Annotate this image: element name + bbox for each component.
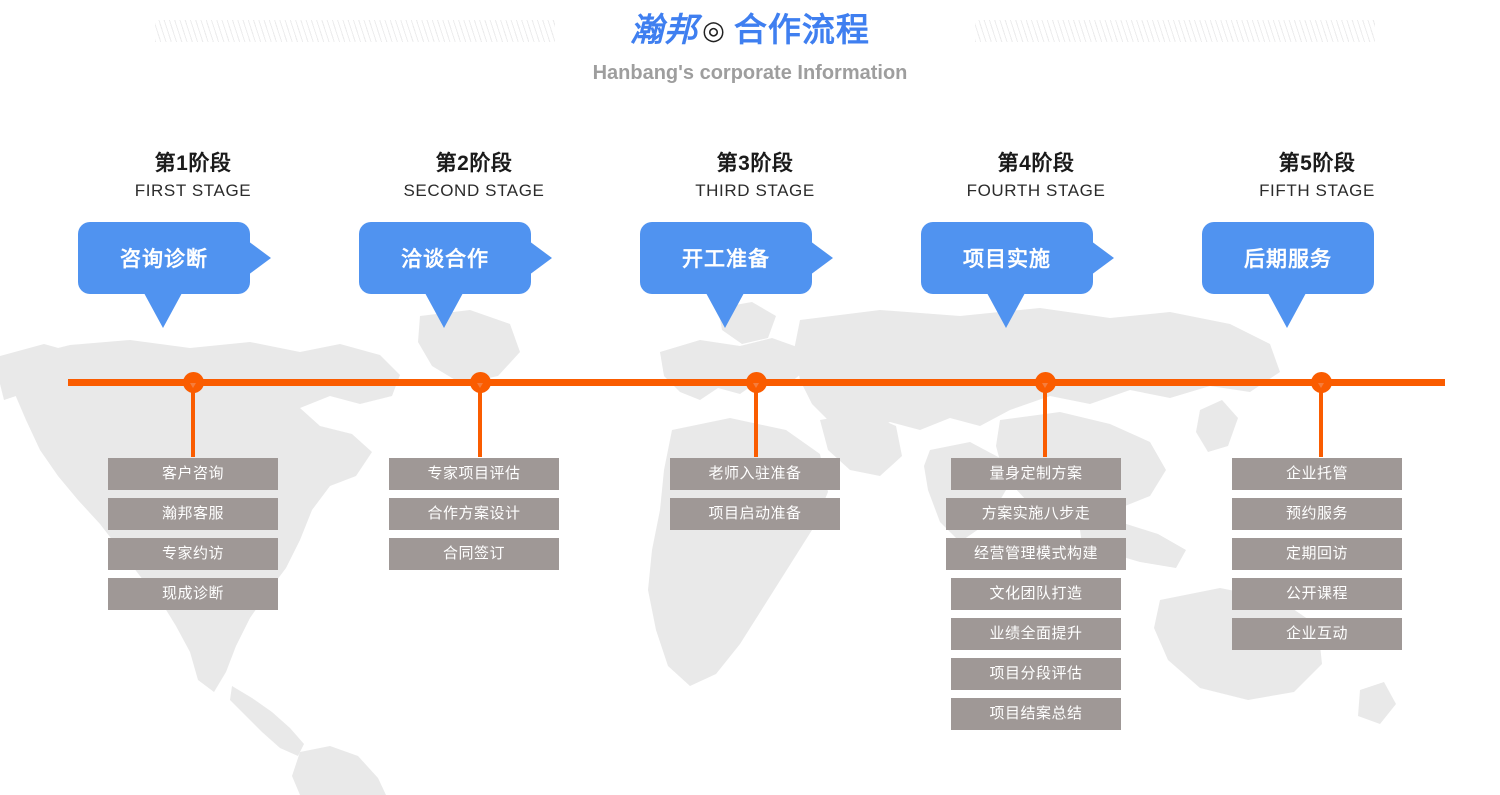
list-item[interactable]: 企业托管 [1232, 458, 1402, 490]
callout-box-3[interactable]: 开工准备 [640, 222, 812, 294]
list-item[interactable]: 企业互动 [1232, 618, 1402, 650]
stage-title-cn-5: 第5阶段 [1176, 150, 1458, 178]
list-item[interactable]: 瀚邦客服 [108, 498, 278, 530]
list-item[interactable]: 经营管理模式构建 [946, 538, 1126, 570]
stage-heading-3: 第3阶段THIRD STAGE [614, 150, 896, 204]
timeline-connector-1 [191, 385, 195, 457]
stage-column-1: 第1阶段FIRST STAGE咨询诊断 [52, 150, 334, 334]
infographic-canvas: 瀚邦◎合作流程 Hanbang's corporate Information … [0, 0, 1500, 795]
stage-title-en-3: THIRD STAGE [614, 178, 896, 204]
stage-heading-4: 第4阶段FOURTH STAGE [895, 150, 1177, 204]
stage-title-cn-2: 第2阶段 [333, 150, 615, 178]
timeline-connector-3 [754, 385, 758, 457]
list-item[interactable]: 业绩全面提升 [951, 618, 1121, 650]
timeline-connector-4 [1043, 385, 1047, 457]
callout-label-5: 后期服务 [1244, 243, 1332, 273]
stage-title-en-5: FIFTH STAGE [1176, 178, 1458, 204]
timeline-connector-2 [478, 385, 482, 457]
brand-name-cn: 瀚邦 [630, 11, 698, 48]
callout-down-pointer-icon-5 [1268, 293, 1306, 328]
stage-title-en-2: SECOND STAGE [333, 178, 615, 204]
callout-label-4: 项目实施 [963, 243, 1051, 273]
stage-items-5: 企业托管预约服务定期回访公开课程企业互动 [1176, 458, 1458, 658]
stage-heading-2: 第2阶段SECOND STAGE [333, 150, 615, 204]
list-item[interactable]: 合同签订 [389, 538, 559, 570]
callout-box-4[interactable]: 项目实施 [921, 222, 1093, 294]
list-item[interactable]: 专家约访 [108, 538, 278, 570]
list-item[interactable]: 专家项目评估 [389, 458, 559, 490]
stage-title-cn-4: 第4阶段 [895, 150, 1177, 178]
stage-items-3: 老师入驻准备项目启动准备 [614, 458, 896, 538]
title-block: 瀚邦◎合作流程 Hanbang's corporate Information [0, 8, 1500, 85]
stage-callout-1[interactable]: 咨询诊断 [52, 222, 334, 334]
stage-title-en-1: FIRST STAGE [52, 178, 334, 204]
list-item[interactable]: 老师入驻准备 [670, 458, 840, 490]
list-item[interactable]: 方案实施八步走 [946, 498, 1126, 530]
page-title-text: 合作流程 [734, 11, 870, 48]
page-header: 瀚邦◎合作流程 Hanbang's corporate Information [0, 0, 1500, 110]
stage-callout-2[interactable]: 洽谈合作 [333, 222, 615, 334]
timeline-marker-4[interactable] [1035, 372, 1056, 393]
stage-column-3: 第3阶段THIRD STAGE开工准备 [614, 150, 896, 334]
list-item[interactable]: 文化团队打造 [951, 578, 1121, 610]
list-item[interactable]: 现成诊断 [108, 578, 278, 610]
timeline-marker-5[interactable] [1311, 372, 1332, 393]
stage-column-2: 第2阶段SECOND STAGE洽谈合作 [333, 150, 615, 334]
stage-items-2: 专家项目评估合作方案设计合同签订 [333, 458, 615, 578]
stage-callout-5[interactable]: 后期服务 [1176, 222, 1458, 334]
callout-down-pointer-icon-2 [425, 293, 463, 328]
list-item[interactable]: 项目启动准备 [670, 498, 840, 530]
brand-logo-icon: ◎ [700, 15, 728, 45]
list-item[interactable]: 项目分段评估 [951, 658, 1121, 690]
callout-label-2: 洽谈合作 [401, 243, 489, 273]
callout-down-pointer-icon-1 [144, 293, 182, 328]
list-item[interactable]: 量身定制方案 [951, 458, 1121, 490]
list-item[interactable]: 定期回访 [1232, 538, 1402, 570]
stage-heading-1: 第1阶段FIRST STAGE [52, 150, 334, 204]
callout-down-pointer-icon-3 [706, 293, 744, 328]
page-subtitle: Hanbang's corporate Information [0, 62, 1500, 85]
list-item[interactable]: 客户咨询 [108, 458, 278, 490]
stage-callout-3[interactable]: 开工准备 [614, 222, 896, 334]
stage-items-1: 客户咨询瀚邦客服专家约访现成诊断 [52, 458, 334, 618]
callout-box-2[interactable]: 洽谈合作 [359, 222, 531, 294]
stage-items-4: 量身定制方案方案实施八步走经营管理模式构建文化团队打造业绩全面提升项目分段评估项… [895, 458, 1177, 738]
stage-heading-5: 第5阶段FIFTH STAGE [1176, 150, 1458, 204]
callout-down-pointer-icon-4 [987, 293, 1025, 328]
timeline-marker-3[interactable] [746, 372, 767, 393]
list-item[interactable]: 合作方案设计 [389, 498, 559, 530]
callout-box-5[interactable]: 后期服务 [1202, 222, 1374, 294]
callout-right-arrow-icon-1 [244, 238, 271, 278]
page-title: 瀚邦◎合作流程 [630, 8, 870, 52]
timeline-marker-1[interactable] [183, 372, 204, 393]
callout-label-3: 开工准备 [682, 243, 770, 273]
callout-right-arrow-icon-3 [806, 238, 833, 278]
callout-label-1: 咨询诊断 [120, 243, 208, 273]
callout-box-1[interactable]: 咨询诊断 [78, 222, 250, 294]
stage-callout-4[interactable]: 项目实施 [895, 222, 1177, 334]
stage-column-5: 第5阶段FIFTH STAGE后期服务 [1176, 150, 1458, 334]
stage-title-cn-3: 第3阶段 [614, 150, 896, 178]
list-item[interactable]: 公开课程 [1232, 578, 1402, 610]
callout-right-arrow-icon-2 [525, 238, 552, 278]
list-item[interactable]: 项目结案总结 [951, 698, 1121, 730]
list-item[interactable]: 预约服务 [1232, 498, 1402, 530]
callout-right-arrow-icon-4 [1087, 238, 1114, 278]
stage-title-en-4: FOURTH STAGE [895, 178, 1177, 204]
stage-title-cn-1: 第1阶段 [52, 150, 334, 178]
timeline-marker-2[interactable] [470, 372, 491, 393]
stage-column-4: 第4阶段FOURTH STAGE项目实施 [895, 150, 1177, 334]
timeline-connector-5 [1319, 385, 1323, 457]
